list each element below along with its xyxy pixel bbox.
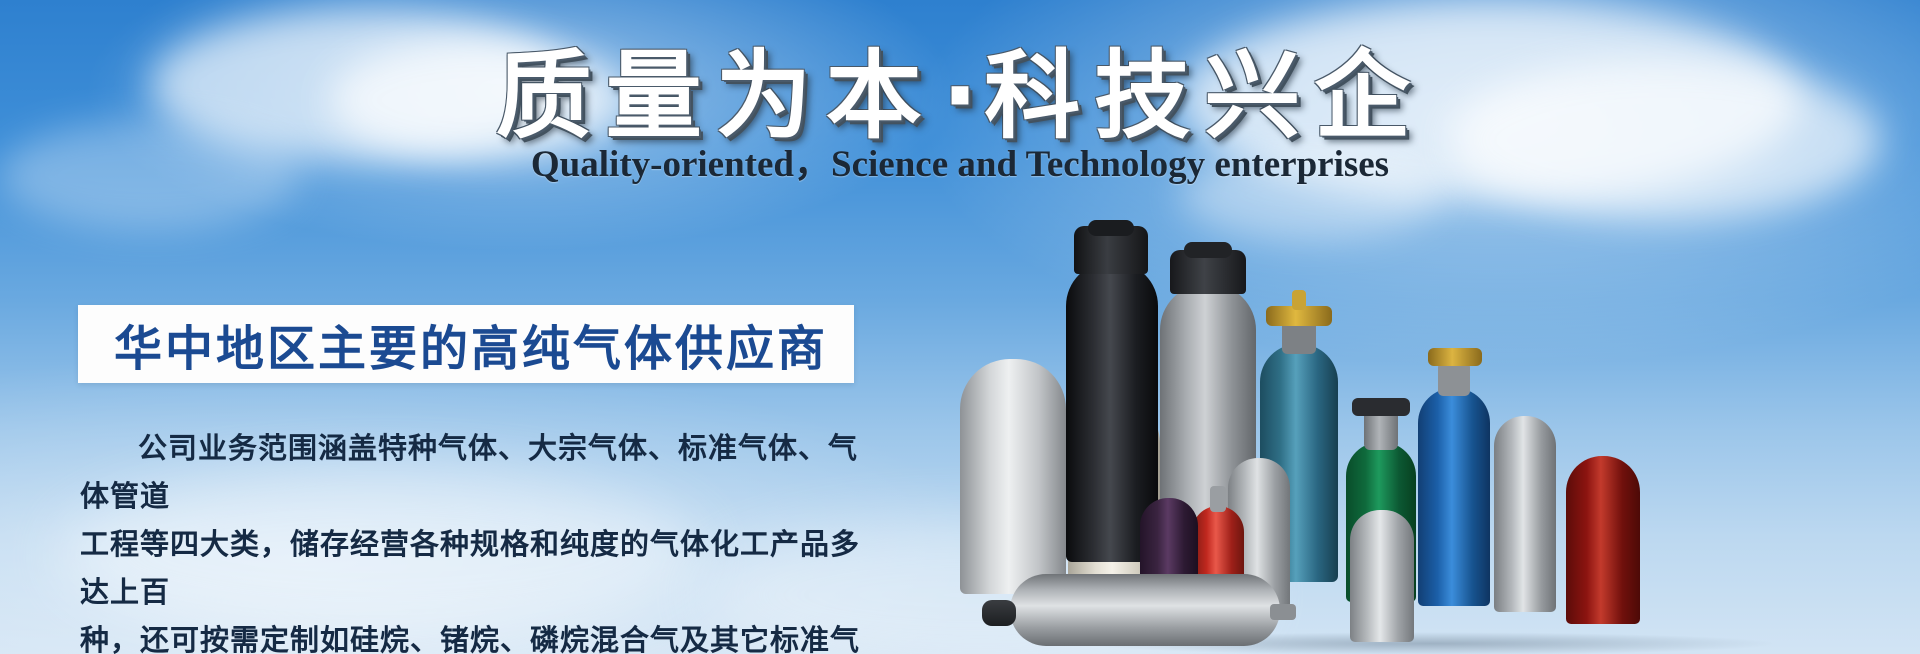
- black-cylinder-handle: [1088, 220, 1134, 236]
- horizontal-grey-cylinder: [1010, 574, 1280, 646]
- brass-valve-stem: [1292, 290, 1306, 310]
- green-cylinder-neck: [1364, 410, 1398, 450]
- light-grey-cylinder: [960, 359, 1066, 594]
- blue-cylinder-valve: [1428, 348, 1482, 366]
- green-cylinder-valve: [1352, 398, 1410, 416]
- horizontal-cylinder-neck: [1270, 604, 1296, 620]
- blue-cylinder-neck: [1438, 362, 1470, 396]
- dark-red-cylinder: [1566, 456, 1640, 624]
- highlight-callout-box: 华中地区主要的高纯气体供应商: [78, 305, 854, 383]
- product-photo-cylinders: [960, 154, 1920, 654]
- horizontal-cylinder-valve: [982, 600, 1016, 626]
- highlight-callout-text: 华中地区主要的高纯气体供应商: [78, 309, 828, 379]
- silver-tall-cylinder: [1494, 416, 1556, 612]
- paragraph-line-1: 公司业务范围涵盖特种气体、大宗气体、标准气体、气体管道: [80, 425, 870, 521]
- promo-banner: 质量为本·科技兴企 Quality-oriented，Science and T…: [0, 0, 1920, 654]
- grey-cylinder-handle: [1184, 242, 1232, 258]
- blue-cylinder: [1418, 388, 1490, 606]
- description-paragraph: 公司业务范围涵盖特种气体、大宗气体、标准气体、气体管道 工程等四大类，储存经营各…: [80, 425, 870, 654]
- paragraph-line-2: 工程等四大类，储存经营各种规格和纯度的气体化工产品多达上百: [80, 521, 870, 617]
- silver-medium-cylinder: [1350, 510, 1414, 642]
- paragraph-line-3: 种，还可按需定制如硅烷、锗烷、磷烷混合气及其它标准气体。: [80, 617, 870, 654]
- red-cylinder-valve: [1210, 486, 1226, 512]
